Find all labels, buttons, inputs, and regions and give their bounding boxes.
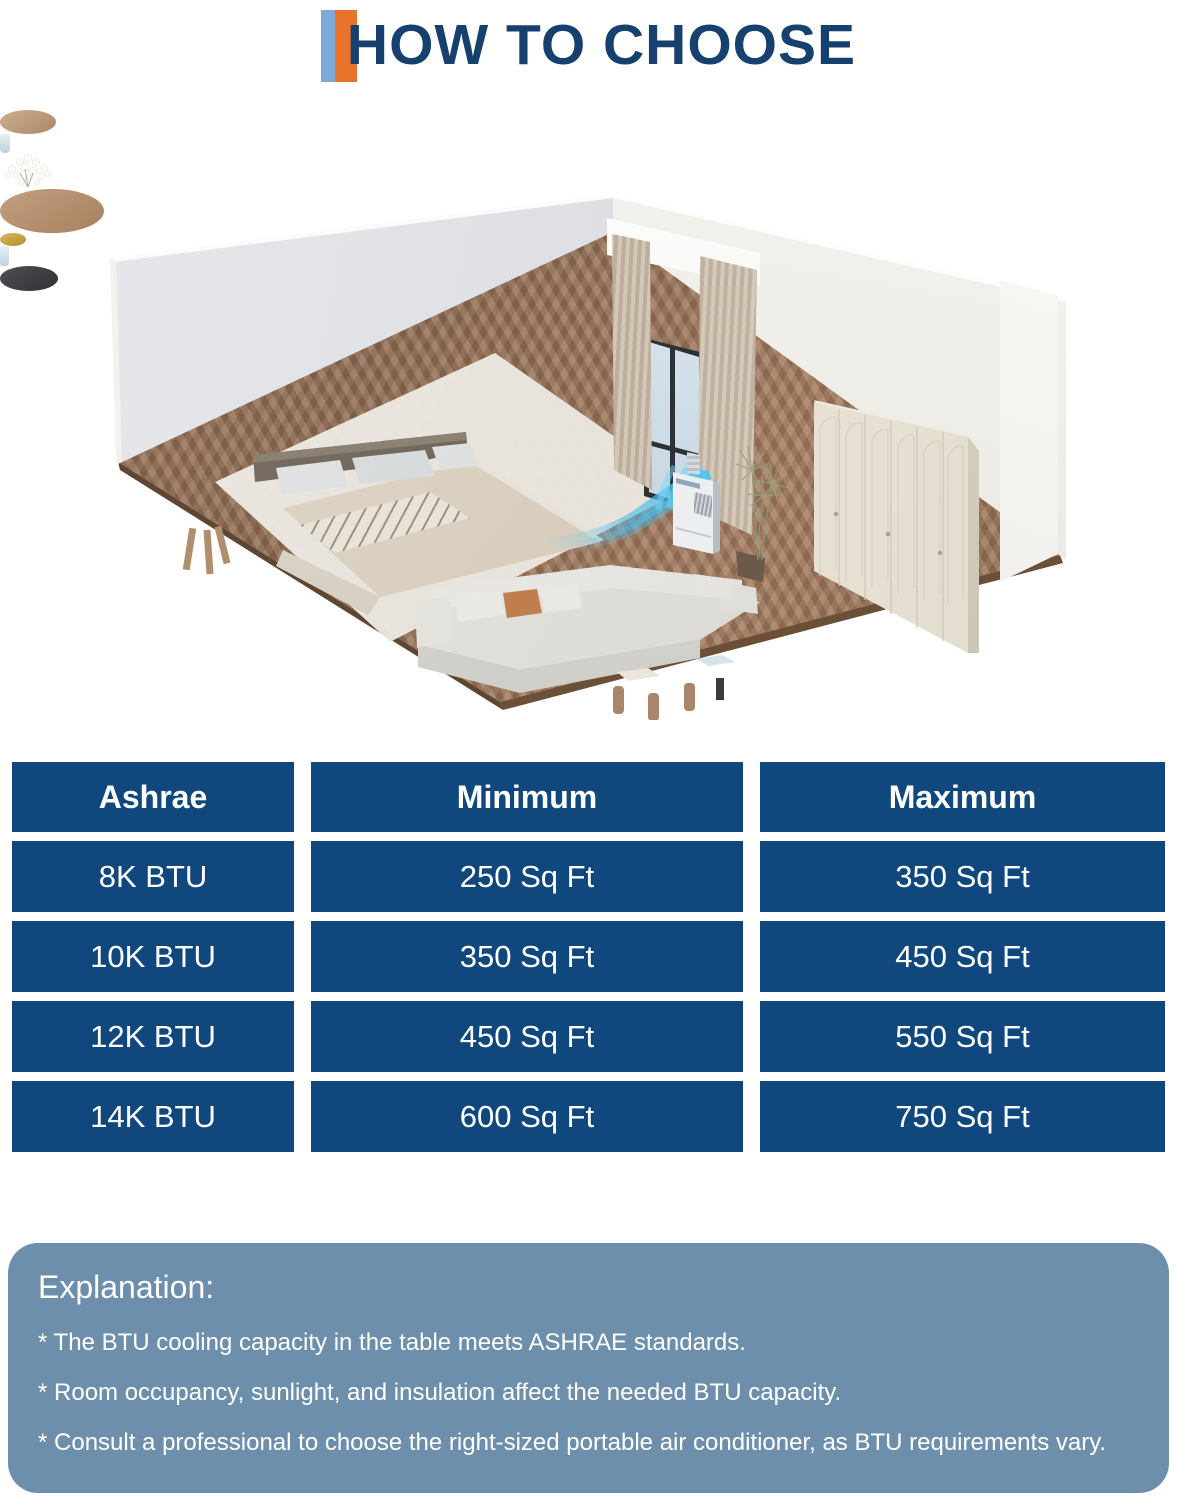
accent-bar-blue-icon xyxy=(321,10,335,82)
cell-maximum: 450 Sq Ft xyxy=(760,921,1165,992)
cell-minimum: 250 Sq Ft xyxy=(311,841,743,912)
table-header-maximum: Maximum xyxy=(760,762,1165,832)
page-header: HOW TO CHOOSE xyxy=(0,0,1177,92)
coffee-table-leg xyxy=(648,693,659,720)
cell-ashrae: 12K BTU xyxy=(12,1001,294,1072)
cell-minimum: 600 Sq Ft xyxy=(311,1081,743,1152)
explanation-line: * Consult a professional to choose the r… xyxy=(38,1428,1139,1458)
table-row: 12K BTU 450 Sq Ft 550 Sq Ft xyxy=(12,1001,1165,1072)
cell-maximum: 350 Sq Ft xyxy=(760,841,1165,912)
cell-maximum: 550 Sq Ft xyxy=(760,1001,1165,1072)
explanation-line: * Room occupancy, sunlight, and insulati… xyxy=(38,1378,1139,1408)
table-row: 8K BTU 250 Sq Ft 350 Sq Ft xyxy=(12,841,1165,912)
coffee-table-leg xyxy=(613,686,624,714)
room-illustration xyxy=(0,110,1177,720)
coffee-table-leg xyxy=(684,683,695,711)
table-header-ashrae: Ashrae xyxy=(12,762,294,832)
title-group: HOW TO CHOOSE xyxy=(321,10,856,82)
table-header-row: Ashrae Minimum Maximum xyxy=(12,762,1165,832)
table-header-minimum: Minimum xyxy=(311,762,743,832)
btu-sizing-table: Ashrae Minimum Maximum 8K BTU 250 Sq Ft … xyxy=(12,762,1165,1152)
explanation-title: Explanation: xyxy=(38,1269,1139,1306)
cell-ashrae: 10K BTU xyxy=(12,921,294,992)
cell-ashrae: 14K BTU xyxy=(12,1081,294,1152)
explanation-line: * The BTU cooling capacity in the table … xyxy=(38,1328,1139,1358)
cell-ashrae: 8K BTU xyxy=(12,841,294,912)
cell-minimum: 350 Sq Ft xyxy=(311,921,743,992)
page-title: HOW TO CHOOSE xyxy=(347,10,856,80)
table-row: 10K BTU 350 Sq Ft 450 Sq Ft xyxy=(12,921,1165,992)
cell-minimum: 450 Sq Ft xyxy=(311,1001,743,1072)
explanation-panel: Explanation: * The BTU cooling capacity … xyxy=(8,1243,1169,1493)
cell-maximum: 750 Sq Ft xyxy=(760,1081,1165,1152)
table-row: 14K BTU 600 Sq Ft 750 Sq Ft xyxy=(12,1081,1165,1152)
dark-side-table-leg xyxy=(716,678,724,700)
